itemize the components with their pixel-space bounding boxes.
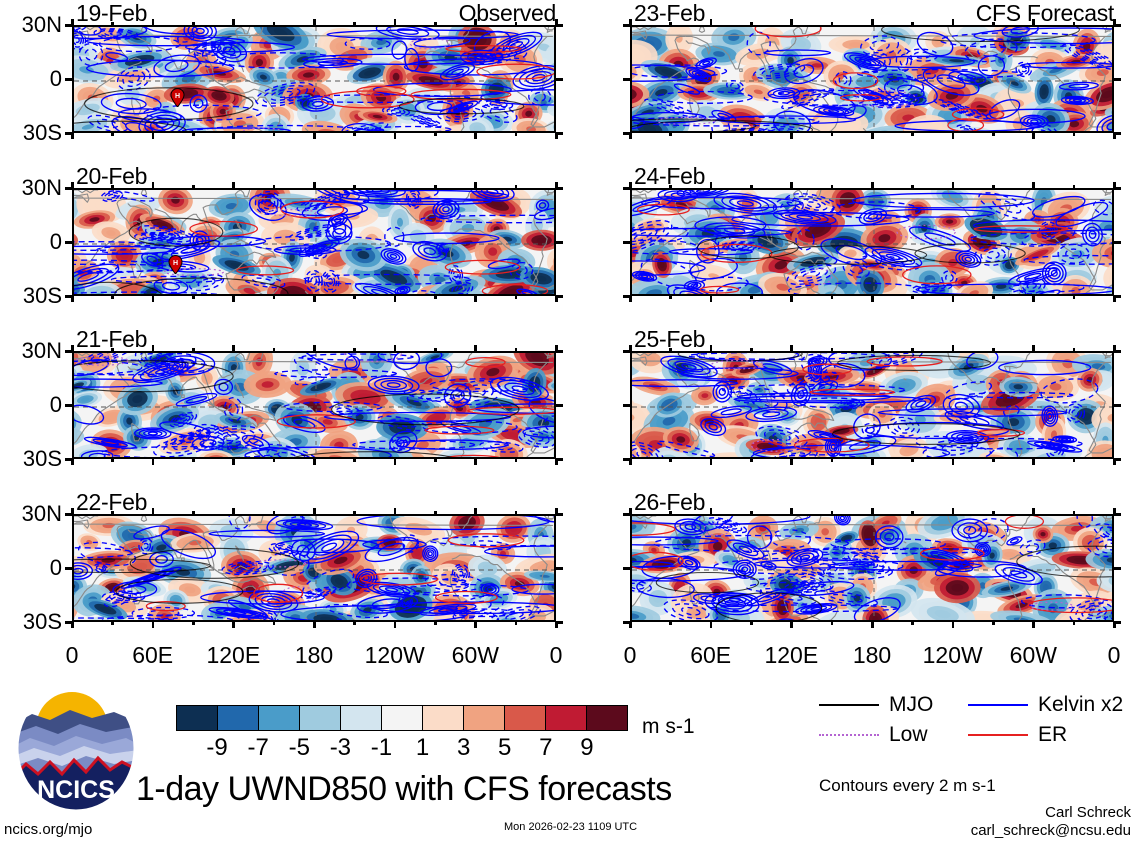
x-tickmark: [474, 458, 477, 465]
x-tickmark: [992, 621, 995, 625]
colorbar-segment-10: [587, 706, 627, 730]
x-tickmark: [669, 458, 672, 462]
x-tickmark: [152, 508, 155, 515]
svg-text:H: H: [175, 93, 180, 100]
x-tickmark: [911, 295, 914, 299]
x-axis-label: 180: [832, 644, 912, 667]
x-tickmark: [1032, 458, 1035, 465]
x-tickmark: [232, 458, 235, 465]
map-panel-21-feb: [72, 351, 556, 459]
x-tickmark: [871, 458, 874, 465]
x-tickmark: [313, 295, 316, 302]
cyclone-marker: H: [168, 255, 183, 274]
x-tickmark: [790, 182, 793, 189]
x-tickmark: [750, 511, 753, 515]
x-tickmark: [555, 508, 558, 515]
x-tickmark: [750, 185, 753, 189]
x-tickmark: [192, 295, 195, 299]
ncics-logo: NCICS: [14, 684, 138, 812]
x-tickmark: [629, 132, 632, 139]
x-tickmark: [1032, 182, 1035, 189]
map-panel-23-feb: [630, 25, 1114, 133]
x-tickmark: [710, 19, 713, 26]
x-tickmark: [273, 348, 276, 352]
x-tickmark: [232, 182, 235, 189]
x-tickmark: [111, 132, 114, 136]
legend-swatch-line: [819, 734, 879, 736]
x-axis-label: 0: [1074, 644, 1135, 667]
x-tickmark: [515, 295, 518, 299]
colorbar-segment-2: [259, 706, 300, 730]
x-tickmark: [1032, 508, 1035, 515]
x-tickmark: [474, 132, 477, 139]
x-axis-label: 0: [590, 644, 670, 667]
x-tickmark: [555, 19, 558, 26]
y-tickmark: [65, 241, 73, 244]
y-tickmark: [555, 404, 563, 407]
map-panel-26-feb: [630, 514, 1114, 622]
x-tickmark: [515, 458, 518, 462]
x-tickmark: [313, 345, 316, 352]
x-axis-label: 0: [516, 644, 596, 667]
x-tickmark: [353, 348, 356, 352]
x-tickmark: [434, 22, 437, 26]
y-tickmark: [555, 78, 563, 81]
x-tickmark: [515, 22, 518, 26]
map-panel-25-feb: [630, 351, 1114, 459]
x-tickmark: [111, 348, 114, 352]
x-tickmark: [152, 458, 155, 465]
colorbar-tick-label: 9: [563, 736, 611, 760]
x-tickmark: [790, 132, 793, 139]
x-tickmark: [394, 508, 397, 515]
x-tickmark: [831, 458, 834, 462]
x-tickmark: [669, 295, 672, 299]
x-tickmark: [394, 458, 397, 465]
colorbar-segment-5: [382, 706, 423, 730]
x-tickmark: [750, 132, 753, 136]
x-tickmark: [394, 19, 397, 26]
x-tickmark: [111, 22, 114, 26]
x-tickmark: [71, 508, 74, 515]
x-tickmark: [831, 621, 834, 625]
x-tickmark: [232, 19, 235, 26]
colorbar-segment-9: [546, 706, 587, 730]
colorbar-segment-1: [218, 706, 259, 730]
y-tickmark: [623, 78, 631, 81]
x-tickmark: [71, 458, 74, 465]
map-panel-19-feb: [72, 25, 556, 133]
contour-interval-note: Contours every 2 m s-1: [819, 777, 996, 794]
x-tickmark: [1113, 458, 1116, 465]
y-axis-label-30s: 30S: [0, 611, 62, 633]
x-tickmark: [515, 132, 518, 136]
x-tickmark: [273, 295, 276, 299]
x-tickmark: [111, 458, 114, 462]
x-tickmark: [394, 182, 397, 189]
x-tickmark: [1113, 182, 1116, 189]
x-tickmark: [669, 621, 672, 625]
y-axis-label-0: 0: [0, 68, 62, 90]
x-tickmark: [750, 458, 753, 462]
x-tickmark: [273, 185, 276, 189]
x-tickmark: [1073, 458, 1076, 462]
y-tickmark: [623, 567, 631, 570]
x-tickmark: [911, 132, 914, 136]
x-axis-label: 120E: [751, 644, 831, 667]
y-tickmark: [623, 241, 631, 244]
x-tickmark: [992, 458, 995, 462]
x-tickmark: [871, 132, 874, 139]
x-tickmark: [555, 295, 558, 302]
x-tickmark: [831, 132, 834, 136]
x-tickmark: [871, 621, 874, 628]
x-tickmark: [434, 458, 437, 462]
x-tickmark: [555, 132, 558, 139]
x-tickmark: [394, 621, 397, 628]
x-tickmark: [313, 621, 316, 628]
x-tickmark: [790, 295, 793, 302]
x-tickmark: [434, 185, 437, 189]
x-tickmark: [750, 22, 753, 26]
x-tickmark: [992, 185, 995, 189]
map-panel-24-feb: [630, 188, 1114, 296]
y-axis-label-0: 0: [0, 557, 62, 579]
x-tickmark: [1032, 345, 1035, 352]
x-tickmark: [710, 295, 713, 302]
colorbar-segment-0: [177, 706, 218, 730]
x-tickmark: [71, 295, 74, 302]
x-tickmark: [831, 348, 834, 352]
logo-label: NCICS: [37, 776, 115, 804]
x-tickmark: [273, 22, 276, 26]
x-tickmark: [232, 295, 235, 302]
x-tickmark: [434, 132, 437, 136]
x-tickmark: [629, 458, 632, 465]
x-tickmark: [152, 182, 155, 189]
x-tickmark: [1113, 295, 1116, 302]
y-axis-label-30n: 30N: [0, 14, 62, 36]
x-tickmark: [1032, 132, 1035, 139]
x-tickmark: [313, 458, 316, 465]
x-tickmark: [474, 621, 477, 628]
y-axis-label-30n: 30N: [0, 177, 62, 199]
x-tickmark: [750, 295, 753, 299]
x-tickmark: [515, 621, 518, 625]
x-tickmark: [750, 348, 753, 352]
svg-text:H: H: [173, 260, 178, 267]
x-tickmark: [434, 621, 437, 625]
x-tickmark: [71, 621, 74, 628]
x-axis-label: 180: [274, 644, 354, 667]
x-axis-label: 120W: [355, 644, 435, 667]
x-tickmark: [192, 621, 195, 625]
x-tickmark: [111, 295, 114, 299]
colorbar-segment-4: [341, 706, 382, 730]
x-tickmark: [790, 508, 793, 515]
y-tickmark: [65, 404, 73, 407]
x-tickmark: [1032, 295, 1035, 302]
x-tickmark: [911, 185, 914, 189]
x-tickmark: [353, 185, 356, 189]
x-tickmark: [232, 621, 235, 628]
x-tickmark: [71, 182, 74, 189]
x-tickmark: [871, 295, 874, 302]
x-tickmark: [952, 621, 955, 628]
x-tickmark: [555, 621, 558, 628]
colorbar-segment-8: [505, 706, 546, 730]
x-tickmark: [831, 511, 834, 515]
x-tickmark: [1032, 19, 1035, 26]
x-tickmark: [474, 295, 477, 302]
x-tickmark: [911, 22, 914, 26]
y-axis-label-30n: 30N: [0, 340, 62, 362]
timestamp: Mon 2026-02-23 1109 UTC: [504, 822, 637, 833]
x-tickmark: [353, 458, 356, 462]
y-tickmark: [555, 567, 563, 570]
map-panel-22-feb: [72, 514, 556, 622]
x-tickmark: [629, 295, 632, 302]
x-tickmark: [555, 458, 558, 465]
x-tickmark: [1073, 132, 1076, 136]
legend-item-mjo: MJO: [819, 694, 933, 715]
x-tickmark: [232, 345, 235, 352]
x-tickmark: [71, 132, 74, 139]
x-tickmark: [313, 19, 316, 26]
x-tickmark: [353, 295, 356, 299]
x-tickmark: [952, 19, 955, 26]
x-tickmark: [273, 621, 276, 625]
x-tickmark: [313, 182, 316, 189]
x-tickmark: [992, 511, 995, 515]
legend-label: ER: [1038, 724, 1067, 745]
x-tickmark: [710, 621, 713, 628]
x-axis-label: 60W: [993, 644, 1073, 667]
x-tickmark: [992, 22, 995, 26]
y-axis-label-30n: 30N: [0, 503, 62, 525]
x-tickmark: [669, 132, 672, 136]
x-tickmark: [192, 132, 195, 136]
colorbar-segment-7: [464, 706, 505, 730]
x-tickmark: [1073, 22, 1076, 26]
x-axis-label: 60E: [113, 644, 193, 667]
x-tickmark: [790, 345, 793, 352]
legend-label: Low: [889, 724, 928, 745]
x-tickmark: [152, 345, 155, 352]
colorbar-segment-3: [300, 706, 341, 730]
x-tickmark: [710, 345, 713, 352]
x-tickmark: [952, 458, 955, 465]
x-tickmark: [831, 295, 834, 299]
figure-title: 1-day UWND850 with CFS forecasts: [136, 772, 672, 806]
y-tickmark: [623, 404, 631, 407]
x-tickmark: [790, 621, 793, 628]
x-tickmark: [952, 295, 955, 302]
x-axis-label: 0: [32, 644, 112, 667]
x-tickmark: [1113, 132, 1116, 139]
y-tickmark: [555, 241, 563, 244]
x-tickmark: [1073, 511, 1076, 515]
x-tickmark: [871, 19, 874, 26]
x-tickmark: [273, 511, 276, 515]
colorbar: [176, 705, 628, 731]
x-tickmark: [629, 19, 632, 26]
legend-swatch-line: [968, 734, 1028, 736]
x-tickmark: [911, 348, 914, 352]
x-tickmark: [434, 348, 437, 352]
legend-item-low: Low: [819, 724, 928, 745]
x-tickmark: [992, 132, 995, 136]
x-tickmark: [911, 458, 914, 462]
y-axis-label-0: 0: [0, 394, 62, 416]
x-axis-label: 60E: [671, 644, 751, 667]
x-axis-label: 120W: [913, 644, 993, 667]
legend-swatch-line: [819, 704, 879, 706]
y-tickmark: [1113, 78, 1121, 81]
cyclone-marker: H: [170, 88, 185, 107]
colorbar-segment-6: [423, 706, 464, 730]
x-tickmark: [871, 182, 874, 189]
x-tickmark: [992, 348, 995, 352]
x-tickmark: [152, 132, 155, 139]
x-tickmark: [710, 182, 713, 189]
x-tickmark: [394, 295, 397, 302]
x-tickmark: [273, 132, 276, 136]
x-tickmark: [434, 295, 437, 299]
x-tickmark: [1113, 621, 1116, 628]
x-tickmark: [474, 182, 477, 189]
x-tickmark: [394, 345, 397, 352]
map-panel-20-feb: [72, 188, 556, 296]
legend-swatch-line: [968, 704, 1028, 706]
x-tickmark: [152, 621, 155, 628]
x-tickmark: [192, 511, 195, 515]
y-axis-label-30s: 30S: [0, 122, 62, 144]
x-tickmark: [1073, 348, 1076, 352]
x-axis-label: 120E: [193, 644, 273, 667]
colorbar-units-label: m s-1: [642, 716, 695, 737]
x-tickmark: [911, 511, 914, 515]
x-tickmark: [1073, 185, 1076, 189]
x-tickmark: [555, 345, 558, 352]
website-footer: ncics.org/mjo: [4, 822, 92, 837]
x-tickmark: [750, 621, 753, 625]
x-axis-label: 60W: [435, 644, 515, 667]
x-tickmark: [394, 132, 397, 139]
y-axis-label-30s: 30S: [0, 285, 62, 307]
legend-label: Kelvin x2: [1038, 694, 1123, 715]
x-tickmark: [111, 621, 114, 625]
x-tickmark: [952, 508, 955, 515]
y-tickmark: [65, 567, 73, 570]
x-tickmark: [71, 19, 74, 26]
x-tickmark: [313, 132, 316, 139]
x-tickmark: [232, 132, 235, 139]
x-tickmark: [111, 185, 114, 189]
y-tickmark: [1113, 404, 1121, 407]
x-tickmark: [669, 511, 672, 515]
x-tickmark: [152, 295, 155, 302]
x-tickmark: [669, 185, 672, 189]
x-tickmark: [1032, 621, 1035, 628]
legend-item-er: ER: [968, 724, 1067, 745]
x-tickmark: [111, 511, 114, 515]
author-email: carl_schreck@ncsu.edu: [971, 823, 1131, 838]
x-tickmark: [515, 348, 518, 352]
x-tickmark: [669, 348, 672, 352]
x-tickmark: [1113, 345, 1116, 352]
x-tickmark: [353, 621, 356, 625]
x-tickmark: [629, 182, 632, 189]
y-tickmark: [1113, 241, 1121, 244]
x-tickmark: [629, 621, 632, 628]
x-tickmark: [629, 508, 632, 515]
author-name: Carl Schreck: [1045, 805, 1131, 820]
x-tickmark: [474, 508, 477, 515]
x-tickmark: [353, 511, 356, 515]
x-tickmark: [192, 185, 195, 189]
x-tickmark: [871, 345, 874, 352]
x-tickmark: [952, 345, 955, 352]
x-tickmark: [1073, 295, 1076, 299]
x-tickmark: [831, 185, 834, 189]
x-tickmark: [434, 511, 437, 515]
x-tickmark: [629, 345, 632, 352]
x-tickmark: [1113, 508, 1116, 515]
x-tickmark: [474, 345, 477, 352]
x-tickmark: [71, 345, 74, 352]
x-tickmark: [353, 132, 356, 136]
x-tickmark: [710, 508, 713, 515]
x-tickmark: [1113, 19, 1116, 26]
x-tickmark: [192, 348, 195, 352]
y-axis-label-0: 0: [0, 231, 62, 253]
x-tickmark: [515, 511, 518, 515]
x-tickmark: [474, 19, 477, 26]
legend-label: MJO: [889, 694, 933, 715]
x-tickmark: [831, 22, 834, 26]
x-tickmark: [952, 132, 955, 139]
x-tickmark: [710, 132, 713, 139]
y-tickmark: [1113, 567, 1121, 570]
x-tickmark: [232, 508, 235, 515]
x-tickmark: [1073, 621, 1076, 625]
x-tickmark: [353, 22, 356, 26]
x-tickmark: [313, 508, 316, 515]
x-tickmark: [952, 182, 955, 189]
x-tickmark: [911, 621, 914, 625]
x-tickmark: [192, 458, 195, 462]
x-tickmark: [152, 19, 155, 26]
x-tickmark: [192, 22, 195, 26]
x-tickmark: [273, 458, 276, 462]
x-tickmark: [790, 19, 793, 26]
legend-item-kelvin-x2: Kelvin x2: [968, 694, 1123, 715]
y-tickmark: [65, 78, 73, 81]
y-axis-label-30s: 30S: [0, 448, 62, 470]
x-tickmark: [992, 295, 995, 299]
x-tickmark: [669, 22, 672, 26]
x-tickmark: [515, 185, 518, 189]
x-tickmark: [710, 458, 713, 465]
x-tickmark: [871, 508, 874, 515]
x-tickmark: [555, 182, 558, 189]
x-tickmark: [790, 458, 793, 465]
